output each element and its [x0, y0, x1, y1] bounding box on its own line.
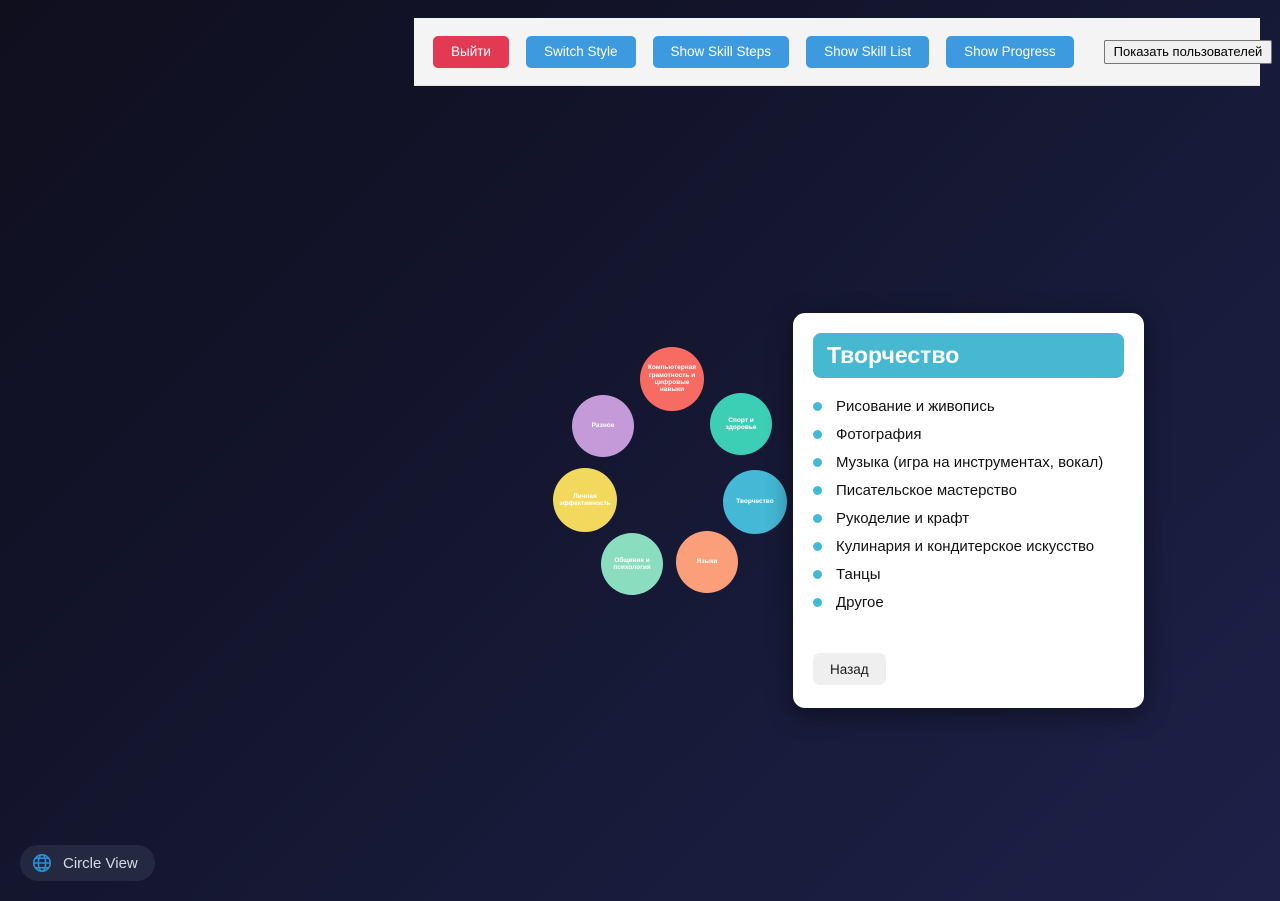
list-item[interactable]: Рисование и живопись [813, 392, 1124, 420]
bubble-label: Общение и психология [605, 557, 659, 572]
list-item-label: Музыка (игра на инструментах, вокал) [836, 454, 1103, 471]
list-item-label: Рукоделие и крафт [836, 510, 969, 527]
bubble-label: Спорт и здоровье [714, 417, 768, 432]
bubble-languages[interactable]: Языки [676, 531, 738, 593]
list-item-label: Рисование и живопись [836, 398, 995, 415]
bubble-misc[interactable]: Разное [572, 395, 634, 457]
show-skill-list-button[interactable]: Show Skill List [806, 36, 929, 68]
list-item-label: Другое [836, 594, 884, 611]
top-toolbar: ВыйтиSwitch StyleShow Skill StepsShow Sk… [414, 18, 1260, 86]
bullet-icon [813, 598, 822, 607]
bullet-icon [813, 542, 822, 551]
show-progress-button[interactable]: Show Progress [946, 36, 1074, 68]
list-item-label: Фотография [836, 426, 921, 443]
bullet-icon [813, 458, 822, 467]
bullet-icon [813, 402, 822, 411]
list-item-label: Писательское мастерство [836, 482, 1017, 499]
show-skill-steps-button[interactable]: Show Skill Steps [653, 36, 790, 68]
bubble-personal-effectiveness[interactable]: Личная эффективность [553, 468, 617, 532]
bubble-communication-psychology[interactable]: Общение и психология [601, 533, 663, 595]
back-button[interactable]: Назад [813, 653, 886, 685]
bullet-icon [813, 514, 822, 523]
list-item-label: Кулинария и кондитерское искусство [836, 538, 1094, 555]
bubble-label: Творчество [736, 498, 773, 505]
bullet-icon [813, 570, 822, 579]
list-item[interactable]: Фотография [813, 420, 1124, 448]
show-users-button[interactable]: Показать пользователей [1104, 40, 1273, 64]
skill-list: Рисование и живописьФотографияМузыка (иг… [813, 392, 1124, 616]
bubble-creativity[interactable]: Творчество [723, 470, 787, 534]
switch-style-button[interactable]: Switch Style [526, 36, 636, 68]
list-item[interactable]: Рукоделие и крафт [813, 504, 1124, 532]
list-item[interactable]: Танцы [813, 560, 1124, 588]
list-item[interactable]: Писательское мастерство [813, 476, 1124, 504]
list-item[interactable]: Музыка (игра на инструментах, вокал) [813, 448, 1124, 476]
logout-button[interactable]: Выйти [433, 36, 509, 68]
bubble-label: Языки [697, 558, 718, 565]
bubble-label: Разное [592, 422, 615, 429]
bullet-icon [813, 430, 822, 439]
page-title: Творчество [827, 342, 959, 369]
list-item[interactable]: Другое [813, 588, 1124, 616]
list-item[interactable]: Кулинария и кондитерское искусство [813, 532, 1124, 560]
skill-detail-panel: Творчество Рисование и живописьФотографи… [793, 313, 1144, 708]
bubble-label: Компьютерная грамотность и цифровые навы… [644, 364, 700, 394]
panel-header: Творчество [813, 333, 1124, 378]
list-item-label: Танцы [836, 566, 881, 583]
view-mode-label: Circle View [63, 855, 138, 872]
bullet-icon [813, 486, 822, 495]
view-mode-badge[interactable]: Circle View [20, 845, 155, 881]
globe-icon [31, 852, 53, 874]
bubble-sport-health[interactable]: Спорт и здоровье [710, 393, 772, 455]
skill-category-bubble-cluster: Компьютерная грамотность и цифровые навы… [540, 345, 810, 615]
bubble-computer-literacy[interactable]: Компьютерная грамотность и цифровые навы… [640, 347, 704, 411]
bubble-label: Личная эффективность [557, 493, 613, 508]
